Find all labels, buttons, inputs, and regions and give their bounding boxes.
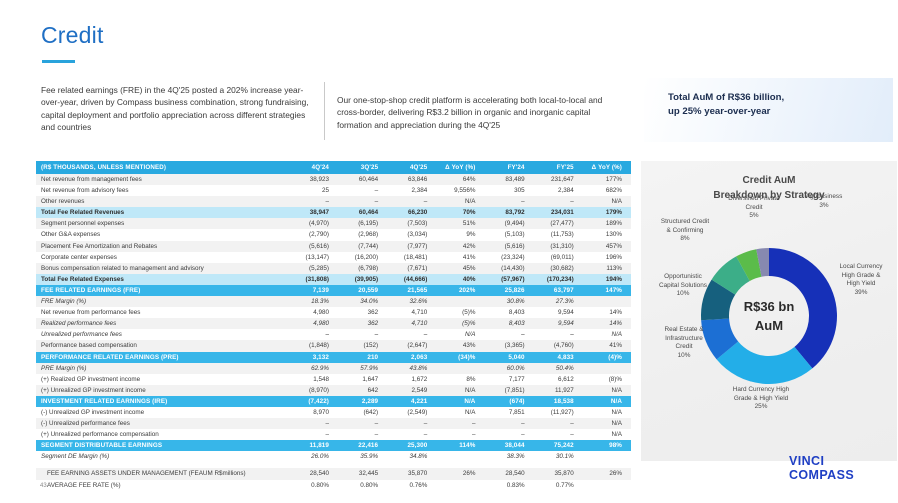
- table-cell: 177%: [583, 174, 631, 185]
- table-cell: 9,594: [534, 307, 583, 318]
- table-cell: 8,403: [484, 318, 533, 329]
- table-cell: (2,790): [289, 229, 338, 240]
- table-row: (+) Realized GP investment income1,5481,…: [36, 374, 631, 385]
- table-cell: (8)%: [583, 374, 631, 385]
- table-cell: 14%: [583, 318, 631, 329]
- table-cell: (170,234): [534, 274, 583, 285]
- table-cell: 2,384: [534, 185, 583, 196]
- table-cell: –: [338, 329, 387, 340]
- table-header-cell: 4Q'25: [387, 161, 436, 174]
- table-cell: –: [534, 329, 583, 340]
- table-cell: (7,503): [387, 218, 436, 229]
- table-cell: 30.8%: [484, 296, 533, 307]
- table-row-label: Segment personnel expenses: [36, 218, 289, 229]
- table-cell: –: [338, 418, 387, 429]
- table-row-label: (+) Unrealized GP investment income: [36, 385, 289, 396]
- table-cell: (31,310): [534, 241, 583, 252]
- table-cell: 0.80%: [338, 480, 387, 491]
- intro-divider: [324, 82, 325, 140]
- table-cell: (18,481): [387, 252, 436, 263]
- table-cell: (2,968): [338, 229, 387, 240]
- slice-label-agribusiness-text: Agribusiness: [789, 193, 859, 202]
- table-row: FRE Margin (%)18.3%34.0%32.6%30.8%27.3%: [36, 296, 631, 307]
- table-cell: 62.9%: [289, 363, 338, 374]
- table-cell: (27,477): [534, 218, 583, 229]
- table-row-label: Unrealized performance fees: [36, 329, 289, 340]
- table-row-label: Corporate center expenses: [36, 252, 289, 263]
- table-row-label: Segment DE Margin (%): [36, 451, 289, 462]
- slice-label-hard-currency-pct: 25%: [711, 403, 811, 412]
- table-cell: 7,851: [484, 407, 533, 418]
- table-cell: 4,833: [534, 352, 583, 363]
- table-row-label: Realized performance fees: [36, 318, 289, 329]
- table-cell: –: [484, 418, 533, 429]
- vinci-compass-logo: VINCI COMPASS: [789, 455, 854, 482]
- table-row: Other G&A expenses(2,790)(2,968)(3,034)9…: [36, 229, 631, 240]
- table-cell: 147%: [583, 285, 631, 296]
- slice-label-real-estate-pct: 10%: [645, 352, 723, 361]
- table-cell: 7,139: [289, 285, 338, 296]
- slice-label-hard-currency: Hard Currency High Grade & High Yield 25…: [711, 386, 811, 412]
- table-cell: (8,970): [289, 385, 338, 396]
- table-cell: 60,464: [338, 174, 387, 185]
- table-cell: 305: [484, 185, 533, 196]
- table-cell: (7,977): [387, 241, 436, 252]
- table-cell: 2,063: [387, 352, 436, 363]
- table-cell: –: [387, 418, 436, 429]
- table-cell: 7,177: [484, 374, 533, 385]
- table-cell: 18,538: [534, 396, 583, 407]
- donut-center-label: R$36 bn AuM: [724, 297, 814, 335]
- table-cell: 25,300: [387, 440, 436, 451]
- table-cell: –: [484, 196, 533, 207]
- table-cell: –: [289, 329, 338, 340]
- table-cell: 98%: [583, 440, 631, 451]
- credit-aum-chart-panel: Credit AuM Breakdown by Strategy R$36 bn…: [641, 161, 897, 461]
- table-row: AVERAGE FEE RATE (%)0.80%0.80%0.76%0.83%…: [36, 480, 631, 491]
- table-cell: (674): [484, 396, 533, 407]
- table-cell: –: [289, 418, 338, 429]
- table-row-label: Net revenue from advisory fees: [36, 185, 289, 196]
- table-cell: N/A: [583, 418, 631, 429]
- table-cell: 25,826: [484, 285, 533, 296]
- table-cell: (4,760): [534, 340, 583, 351]
- table-cell: 1,647: [338, 374, 387, 385]
- table-cell: 0.80%: [289, 480, 338, 491]
- table-cell: 6,612: [534, 374, 583, 385]
- logo-line-1: VINCI: [789, 454, 824, 468]
- table-cell: (16,200): [338, 252, 387, 263]
- table-row: SEGMENT DISTRIBUTABLE EARNINGS11,81922,4…: [36, 440, 631, 451]
- table-row-label: (+) Realized GP investment income: [36, 374, 289, 385]
- table-header-row: (R$ THOUSANDS, UNLESS MENTIONED)4Q'243Q'…: [36, 161, 631, 174]
- intro-paragraph-left: Fee related earnings (FRE) in the 4Q'25 …: [41, 84, 317, 134]
- financials-table-wrapper: (R$ THOUSANDS, UNLESS MENTIONED)4Q'243Q'…: [36, 161, 631, 491]
- slice-label-diversified-private-credit: Diversified Private Credit 5%: [715, 195, 793, 221]
- table-cell: 202%: [436, 285, 484, 296]
- table-row: Unrealized performance fees–––N/A––N/A: [36, 329, 631, 340]
- table-cell: 8,970: [289, 407, 338, 418]
- table-cell: (5,616): [484, 241, 533, 252]
- table-cell: (39,905): [338, 274, 387, 285]
- table-cell: 60,464: [338, 207, 387, 218]
- table-cell: (2,647): [387, 340, 436, 351]
- table-cell: –: [534, 418, 583, 429]
- table-cell: N/A: [583, 396, 631, 407]
- table-header-cell: FY'24: [484, 161, 533, 174]
- table-cell: (3,365): [484, 340, 533, 351]
- table-header-cell: FY'25: [534, 161, 583, 174]
- table-cell: 2,289: [338, 396, 387, 407]
- table-cell: 4,710: [387, 307, 436, 318]
- table-row: (-) Unrealized GP investment income8,970…: [36, 407, 631, 418]
- table-cell: 2,549: [387, 385, 436, 396]
- table-row-label: Net revenue from performance fees: [36, 307, 289, 318]
- table-cell: 18.3%: [289, 296, 338, 307]
- table-cell: 83,792: [484, 207, 533, 218]
- table-cell: 70%: [436, 207, 484, 218]
- table-cell: (57,967): [484, 274, 533, 285]
- table-cell: 3,132: [289, 352, 338, 363]
- table-cell: N/A: [436, 407, 484, 418]
- table-cell: (7,744): [338, 241, 387, 252]
- table-cell: 9,556%: [436, 185, 484, 196]
- table-cell: (4)%: [583, 352, 631, 363]
- table-cell: [436, 363, 484, 374]
- table-cell: N/A: [583, 196, 631, 207]
- table-cell: 45%: [436, 263, 484, 274]
- table-cell: 2,384: [387, 185, 436, 196]
- table-cell: 38,947: [289, 207, 338, 218]
- table-row-label: Other G&A expenses: [36, 229, 289, 240]
- slice-label-agribusiness-pct: 3%: [789, 202, 859, 211]
- table-cell: 27.3%: [534, 296, 583, 307]
- table-cell: 113%: [583, 263, 631, 274]
- table-row-label: SEGMENT DISTRIBUTABLE EARNINGS: [36, 440, 289, 451]
- table-cell: (152): [338, 340, 387, 351]
- slice-label-structured-pct: 8%: [643, 235, 727, 244]
- table-row: (+) Unrealized GP investment income(8,97…: [36, 385, 631, 396]
- table-cell: 9%: [436, 229, 484, 240]
- aum-callout-text: Total AuM of R$36 billion, up 25% year-o…: [668, 91, 878, 119]
- table-cell: N/A: [436, 329, 484, 340]
- table-cell: –: [387, 329, 436, 340]
- table-cell: 8%: [436, 374, 484, 385]
- table-row-label: Other revenues: [36, 196, 289, 207]
- table-cell: –: [387, 429, 436, 440]
- table-cell: 38,923: [289, 174, 338, 185]
- table-header-cell: 3Q'25: [338, 161, 387, 174]
- table-cell: 1,672: [387, 374, 436, 385]
- table-cell: [436, 296, 484, 307]
- table-cell: 26%: [436, 468, 484, 479]
- table-cell: 234,031: [534, 207, 583, 218]
- table-cell: (7,851): [484, 385, 533, 396]
- table-row: Other revenues–––N/A––N/A: [36, 196, 631, 207]
- page-title: Credit: [41, 22, 104, 49]
- table-row: Net revenue from advisory fees25–2,3849,…: [36, 185, 631, 196]
- table-cell: (5)%: [436, 318, 484, 329]
- table-cell: 43%: [436, 340, 484, 351]
- table-row: INVESTMENT RELATED EARNINGS (IRE)(7,422)…: [36, 396, 631, 407]
- table-cell: 26.0%: [289, 451, 338, 462]
- table-cell: 210: [338, 352, 387, 363]
- table-cell: 4,710: [387, 318, 436, 329]
- table-cell: 26%: [583, 468, 631, 479]
- table-cell: 0.83%: [484, 480, 533, 491]
- table-row-label: Performance based compensation: [36, 340, 289, 351]
- table-cell: 83,489: [484, 174, 533, 185]
- table-cell: (34)%: [436, 352, 484, 363]
- table-cell: 57.9%: [338, 363, 387, 374]
- table-cell: 41%: [436, 252, 484, 263]
- table-cell: 0.76%: [387, 480, 436, 491]
- table-cell: 64%: [436, 174, 484, 185]
- table-row: PERFORMANCE RELATED EARNINGS (PRE)3,1322…: [36, 352, 631, 363]
- table-cell: N/A: [436, 385, 484, 396]
- table-cell: 194%: [583, 274, 631, 285]
- table-cell: 35,870: [534, 468, 583, 479]
- table-cell: (7,422): [289, 396, 338, 407]
- table-row: Placement Fee Amortization and Rebates(5…: [36, 241, 631, 252]
- title-underline: [42, 60, 75, 63]
- table-row-label: INVESTMENT RELATED EARNINGS (IRE): [36, 396, 289, 407]
- table-cell: 0.77%: [534, 480, 583, 491]
- table-cell: 114%: [436, 440, 484, 451]
- table-cell: [583, 480, 631, 491]
- table-row: (-) Unrealized performance fees––––––N/A: [36, 418, 631, 429]
- table-cell: (44,666): [387, 274, 436, 285]
- table-row-label: (-) Unrealized performance fees: [36, 418, 289, 429]
- table-cell: 11,819: [289, 440, 338, 451]
- table-row: Net revenue from management fees38,92360…: [36, 174, 631, 185]
- table-row: Bonus compensation related to management…: [36, 263, 631, 274]
- table-cell: 20,559: [338, 285, 387, 296]
- table-cell: (5,103): [484, 229, 533, 240]
- table-header-cell: 4Q'24: [289, 161, 338, 174]
- table-cell: (1,848): [289, 340, 338, 351]
- table-header-cell: (R$ THOUSANDS, UNLESS MENTIONED): [36, 161, 289, 174]
- table-cell: [436, 480, 484, 491]
- table-cell: 231,647: [534, 174, 583, 185]
- table-cell: –: [338, 196, 387, 207]
- table-cell: –: [484, 329, 533, 340]
- intro-paragraph-right: Our one-stop-shop credit platform is acc…: [337, 94, 609, 131]
- table-cell: 63,797: [534, 285, 583, 296]
- table-row-label: Placement Fee Amortization and Rebates: [36, 241, 289, 252]
- table-cell: 4,980: [289, 318, 338, 329]
- table-row: Net revenue from performance fees4,98036…: [36, 307, 631, 318]
- table-header-cell: Δ YoY (%): [436, 161, 484, 174]
- table-cell: N/A: [436, 396, 484, 407]
- financials-table: (R$ THOUSANDS, UNLESS MENTIONED)4Q'243Q'…: [36, 161, 631, 491]
- table-cell: 457%: [583, 241, 631, 252]
- table-cell: (5)%: [436, 307, 484, 318]
- logo-line-2: COMPASS: [789, 468, 854, 482]
- table-cell: –: [387, 196, 436, 207]
- aum-callout-line1: Total AuM of R$36 billion,: [668, 92, 784, 103]
- table-row: Total Fee Related Expenses(31,808)(39,90…: [36, 274, 631, 285]
- table-cell: 4,221: [387, 396, 436, 407]
- table-cell: 38,044: [484, 440, 533, 451]
- table-row-label: PRE Margin (%): [36, 363, 289, 374]
- table-cell: N/A: [583, 385, 631, 396]
- table-cell: 362: [338, 307, 387, 318]
- table-cell: (11,927): [534, 407, 583, 418]
- table-row-label: FRE Margin (%): [36, 296, 289, 307]
- table-row: Corporate center expenses(13,147)(16,200…: [36, 252, 631, 263]
- table-cell: 362: [338, 318, 387, 329]
- table-row-label: AVERAGE FEE RATE (%): [36, 480, 289, 491]
- table-cell: (5,616): [289, 241, 338, 252]
- table-row-label: FEE EARNING ASSETS UNDER MANAGEMENT (FEA…: [36, 468, 289, 479]
- table-cell: (642): [338, 407, 387, 418]
- table-cell: 14%: [583, 307, 631, 318]
- table-row-label: (-) Unrealized GP investment income: [36, 407, 289, 418]
- table-cell: (30,682): [534, 263, 583, 274]
- aum-callout-box: Total AuM of R$36 billion, up 25% year-o…: [644, 78, 893, 142]
- table-cell: 1,548: [289, 374, 338, 385]
- table-cell: N/A: [436, 196, 484, 207]
- table-cell: [436, 451, 484, 462]
- slice-label-real-estate-infrastructure-credit: Real Estate & Infrastructure Credit 10%: [645, 326, 723, 360]
- table-cell: 21,565: [387, 285, 436, 296]
- table-cell: 25: [289, 185, 338, 196]
- table-row-label: Total Fee Related Revenues: [36, 207, 289, 218]
- table-cell: (2,549): [387, 407, 436, 418]
- table-row: Performance based compensation(1,848)(15…: [36, 340, 631, 351]
- table-cell: 22,416: [338, 440, 387, 451]
- table-row: Total Fee Related Revenues38,94760,46466…: [36, 207, 631, 218]
- table-cell: (31,808): [289, 274, 338, 285]
- table-cell: 642: [338, 385, 387, 396]
- table-cell: 40%: [436, 274, 484, 285]
- table-cell: (13,147): [289, 252, 338, 263]
- table-cell: 4,980: [289, 307, 338, 318]
- slice-label-agribusiness: Agribusiness 3%: [789, 193, 859, 210]
- table-cell: –: [289, 196, 338, 207]
- table-cell: (23,324): [484, 252, 533, 263]
- table-cell: –: [534, 429, 583, 440]
- table-cell: 32,445: [338, 468, 387, 479]
- donut-center-unit: AuM: [755, 318, 783, 333]
- table-row: PRE Margin (%)62.9%57.9%43.8%60.0%50.4%: [36, 363, 631, 374]
- table-cell: (14,430): [484, 263, 533, 274]
- table-cell: [583, 451, 631, 462]
- table-cell: 35,870: [387, 468, 436, 479]
- table-cell: N/A: [583, 329, 631, 340]
- page-number: 43: [40, 483, 47, 489]
- table-row: Realized performance fees4,9803624,710(5…: [36, 318, 631, 329]
- table-cell: (3,034): [387, 229, 436, 240]
- table-cell: 42%: [436, 241, 484, 252]
- table-cell: 41%: [583, 340, 631, 351]
- table-cell: 179%: [583, 207, 631, 218]
- table-cell: (69,011): [534, 252, 583, 263]
- donut-center-value: R$36 bn: [744, 299, 795, 314]
- slice-label-local-currency: Local Currency High Grade & High Yield 3…: [827, 263, 895, 297]
- slice-label-opportunistic-capital-solutions: Opportunistic Capital Solutions 10%: [641, 273, 725, 299]
- table-cell: 38.3%: [484, 451, 533, 462]
- table-row-label: Bonus compensation related to management…: [36, 263, 289, 274]
- table-cell: –: [436, 429, 484, 440]
- table-cell: 60.0%: [484, 363, 533, 374]
- table-cell: –: [436, 418, 484, 429]
- table-cell: 35.9%: [338, 451, 387, 462]
- table-row-label: PERFORMANCE RELATED EARNINGS (PRE): [36, 352, 289, 363]
- table-cell: 50.4%: [534, 363, 583, 374]
- table-cell: [583, 363, 631, 374]
- table-cell: (5,285): [289, 263, 338, 274]
- table-row-label: Total Fee Related Expenses: [36, 274, 289, 285]
- table-cell: 43.8%: [387, 363, 436, 374]
- slice-label-opportunistic-pct: 10%: [641, 290, 725, 299]
- table-row: FEE EARNING ASSETS UNDER MANAGEMENT (FEA…: [36, 468, 631, 479]
- table-cell: 682%: [583, 185, 631, 196]
- table-row-label: FEE RELATED EARNINGS (FRE): [36, 285, 289, 296]
- table-cell: –: [534, 196, 583, 207]
- table-cell: N/A: [583, 429, 631, 440]
- table-cell: 34.8%: [387, 451, 436, 462]
- table-cell: (4,970): [289, 218, 338, 229]
- table-row-label: (+) Unrealized performance compensation: [36, 429, 289, 440]
- slice-label-local-currency-pct: 39%: [827, 289, 895, 298]
- table-cell: 51%: [436, 218, 484, 229]
- table-cell: 28,540: [289, 468, 338, 479]
- table-cell: 11,927: [534, 385, 583, 396]
- table-cell: 5,040: [484, 352, 533, 363]
- table-cell: 189%: [583, 218, 631, 229]
- table-row: Segment personnel expenses(4,970)(6,195)…: [36, 218, 631, 229]
- table-row: FEE RELATED EARNINGS (FRE)7,13920,55921,…: [36, 285, 631, 296]
- slice-label-structured-credit: Structured Credit & Confirming 8%: [643, 218, 727, 244]
- aum-callout-line2: up 25% year-over-year: [668, 106, 770, 117]
- table-cell: –: [289, 429, 338, 440]
- table-cell: 9,594: [534, 318, 583, 329]
- table-cell: –: [484, 429, 533, 440]
- table-cell: 75,242: [534, 440, 583, 451]
- table-cell: (6,798): [338, 263, 387, 274]
- table-cell: (11,753): [534, 229, 583, 240]
- table-cell: (6,195): [338, 218, 387, 229]
- table-cell: [583, 296, 631, 307]
- table-cell: 30.1%: [534, 451, 583, 462]
- table-cell: –: [338, 429, 387, 440]
- table-cell: 196%: [583, 252, 631, 263]
- table-cell: 130%: [583, 229, 631, 240]
- slide-root: Credit Fee related earnings (FRE) in the…: [0, 0, 898, 503]
- table-cell: 32.6%: [387, 296, 436, 307]
- table-cell: (9,494): [484, 218, 533, 229]
- table-cell: 28,540: [484, 468, 533, 479]
- table-cell: –: [338, 185, 387, 196]
- table-cell: 66,230: [387, 207, 436, 218]
- table-cell: N/A: [583, 407, 631, 418]
- table-cell: 8,403: [484, 307, 533, 318]
- table-cell: 63,846: [387, 174, 436, 185]
- table-cell: 34.0%: [338, 296, 387, 307]
- table-header-cell: Δ YoY (%): [583, 161, 631, 174]
- table-row: Segment DE Margin (%)26.0%35.9%34.8%38.3…: [36, 451, 631, 462]
- table-row-label: Net revenue from management fees: [36, 174, 289, 185]
- table-row: (+) Unrealized performance compensation–…: [36, 429, 631, 440]
- table-cell: (7,671): [387, 263, 436, 274]
